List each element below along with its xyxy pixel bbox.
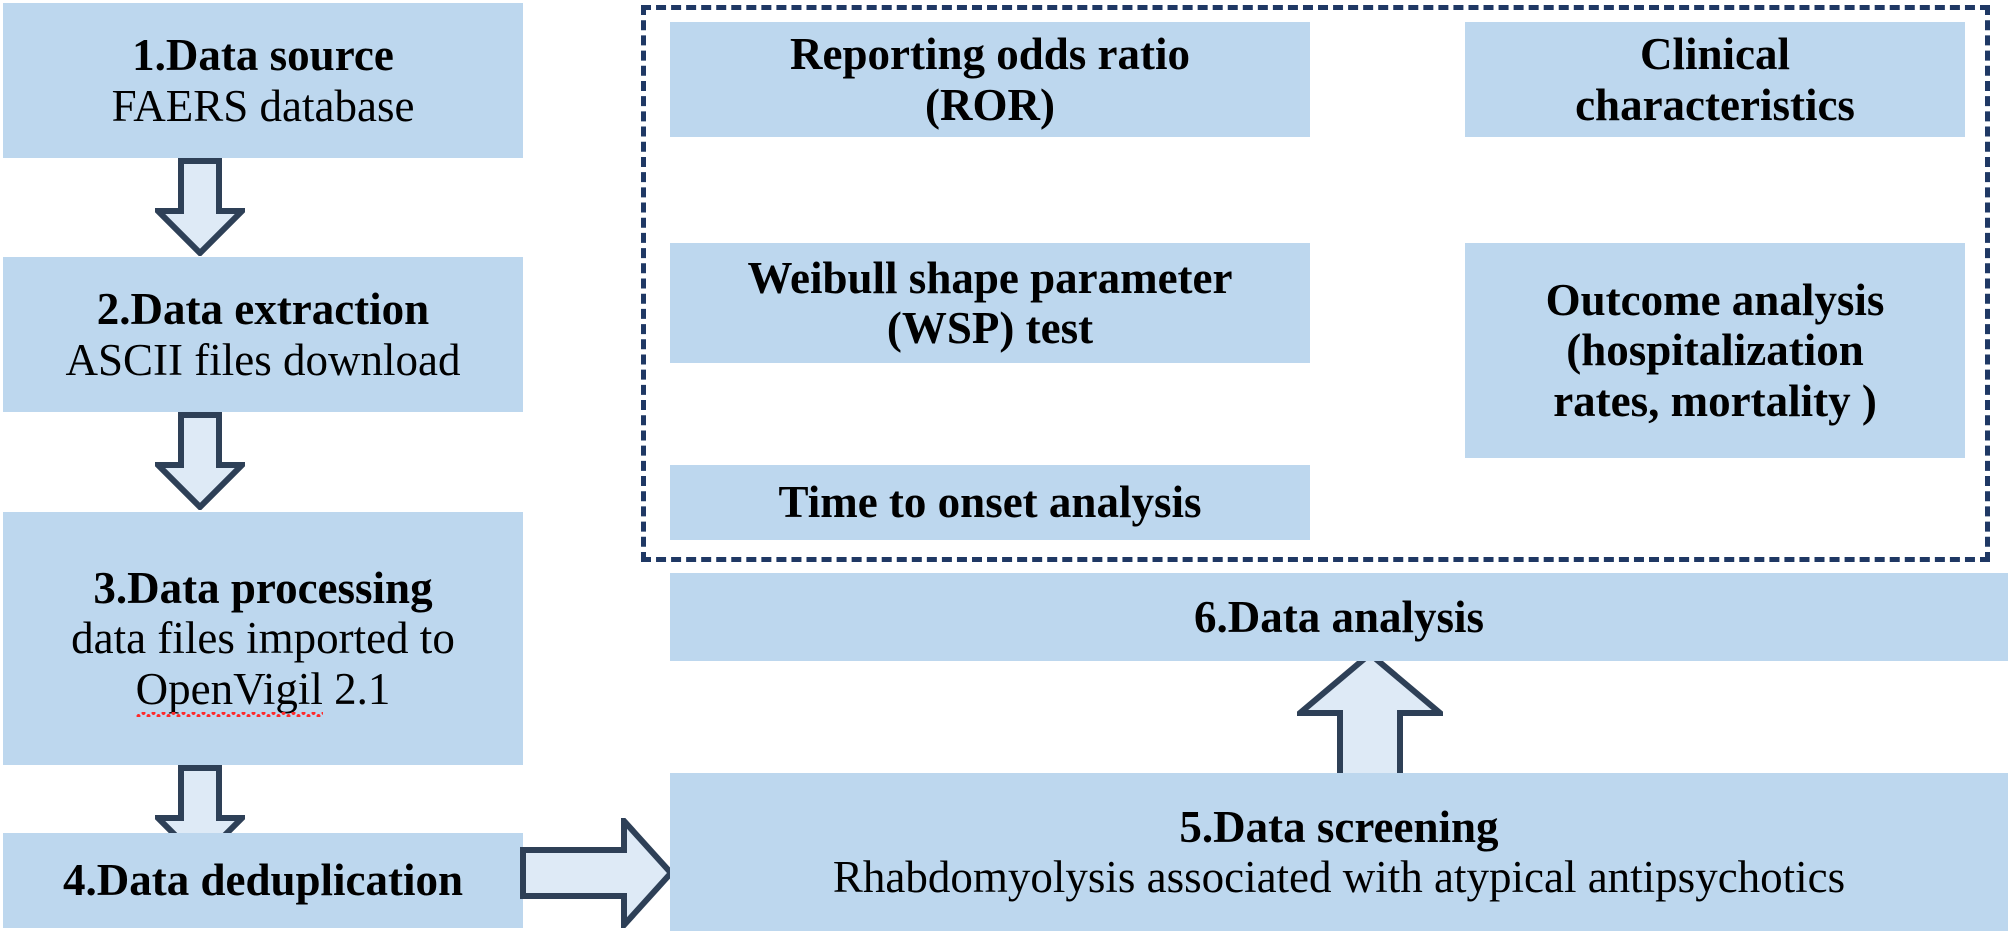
down-arrow-step1-to-step2 <box>155 158 245 256</box>
ror-line-1: Reporting odds ratio <box>790 29 1190 79</box>
step-1-title: 1.Data source <box>132 30 394 80</box>
step-1-detail: FAERS database <box>112 81 415 131</box>
step-3-data-processing-box: 3.Data processing data files imported to… <box>3 512 523 765</box>
ror-line-2: (ROR) <box>925 80 1055 130</box>
analysis-method-time-to-onset-box: Time to onset analysis <box>670 465 1310 540</box>
time-to-onset-line-1: Time to onset analysis <box>779 477 1202 527</box>
step-4-data-deduplication-box: 4.Data deduplication <box>3 833 523 928</box>
clinical-line-2: characteristics <box>1575 80 1855 130</box>
step-3-detail-line-2: OpenVigil 2.1 <box>136 664 391 714</box>
spellcheck-misspelled-word: OpenVigil <box>136 664 323 714</box>
step-2-title: 2.Data extraction <box>97 284 429 334</box>
analysis-method-outcome-analysis-box: Outcome analysis (hospitalization rates,… <box>1465 243 1965 458</box>
outcome-line-2: (hospitalization <box>1566 325 1864 375</box>
flowchart-canvas: 1.Data source FAERS database 2.Data extr… <box>0 0 2008 934</box>
step-4-title: 4.Data deduplication <box>63 855 463 905</box>
step-3-title: 3.Data processing <box>93 563 432 613</box>
step-6-data-analysis-box: 6.Data analysis <box>670 573 2008 661</box>
step-3-detail-line-1: data files imported to <box>71 613 455 663</box>
step-5-detail: Rhabdomyolysis associated with atypical … <box>833 852 1845 902</box>
down-arrow-step2-to-step3 <box>155 412 245 510</box>
outcome-line-3: rates, mortality ) <box>1553 376 1877 426</box>
analysis-method-ror-box: Reporting odds ratio (ROR) <box>670 22 1310 137</box>
up-arrow-step5-to-step6 <box>1297 651 1443 783</box>
analysis-method-clinical-characteristics-box: Clinical characteristics <box>1465 22 1965 137</box>
clinical-line-1: Clinical <box>1640 29 1790 79</box>
step-5-title: 5.Data screening <box>1179 802 1498 852</box>
step-3-version: 2.1 <box>323 664 391 714</box>
right-arrow-step4-to-step5 <box>520 818 674 928</box>
analysis-method-wsp-box: Weibull shape parameter (WSP) test <box>670 243 1310 363</box>
wsp-line-1: Weibull shape parameter <box>748 253 1233 303</box>
step-6-title: 6.Data analysis <box>1194 592 1484 642</box>
wsp-line-2: (WSP) test <box>887 303 1093 353</box>
outcome-line-1: Outcome analysis <box>1546 275 1885 325</box>
step-1-data-source-box: 1.Data source FAERS database <box>3 3 523 158</box>
step-5-data-screening-box: 5.Data screening Rhabdomyolysis associat… <box>670 773 2008 931</box>
step-2-data-extraction-box: 2.Data extraction ASCII files download <box>3 257 523 412</box>
step-2-detail: ASCII files download <box>66 335 461 385</box>
